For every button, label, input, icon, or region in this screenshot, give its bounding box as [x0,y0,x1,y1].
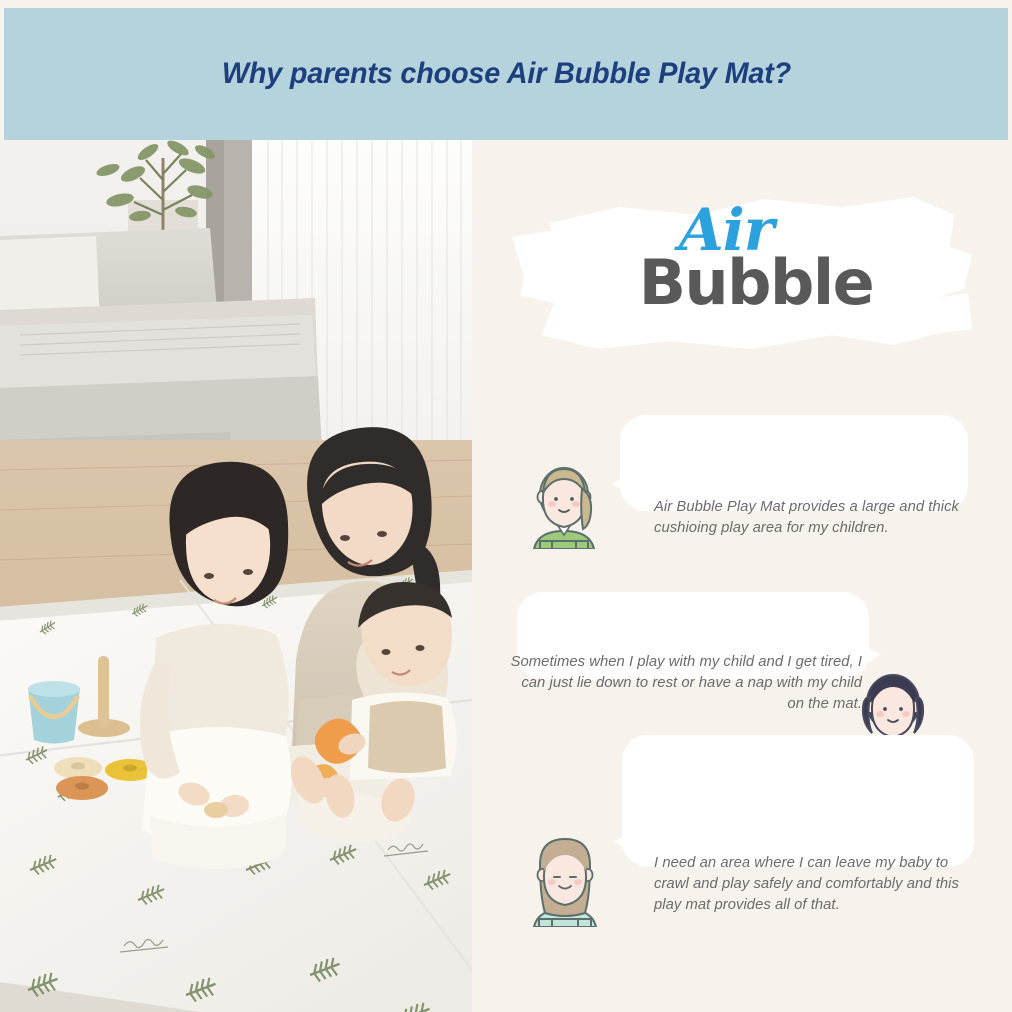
testimonial-2: Sometimes when I play with my child and … [472,592,1012,752]
testimonial-3: I need an area where I can leave my baby… [472,735,1012,965]
speech-bubble-tail-1 [612,473,634,499]
testimonials-panel: Air Bubble [472,140,1012,1012]
testimonial-1: Air Bubble Play Mat provides a large and… [472,415,1012,580]
photo-illustration [0,140,472,1012]
testimonial-quote-1: Air Bubble Play Mat provides a large and… [654,497,964,539]
testimonial-quote-2: Sometimes when I play with my child and … [510,652,862,715]
speech-bubble-tail-3 [614,831,636,857]
avatar-1 [530,459,598,549]
product-lifestyle-photo [0,140,472,1012]
logo-wordmark: Air Bubble [502,203,982,314]
header-banner: Why parents choose Air Bubble Play Mat? [4,8,1008,140]
infographic-page: Why parents choose Air Bubble Play Mat? [0,0,1012,1012]
brand-logo: Air Bubble [502,185,982,375]
page-title: Why parents choose Air Bubble Play Mat? [221,57,790,91]
avatar-brownhair-mint-sweater-icon [530,835,600,927]
speech-bubble-3 [622,735,974,867]
avatar-blonde-green-sweater-icon [530,459,598,549]
testimonial-quote-3: I need an area where I can leave my baby… [654,853,972,916]
avatar-3 [530,835,600,927]
logo-bubble-text: Bubble [516,252,996,314]
